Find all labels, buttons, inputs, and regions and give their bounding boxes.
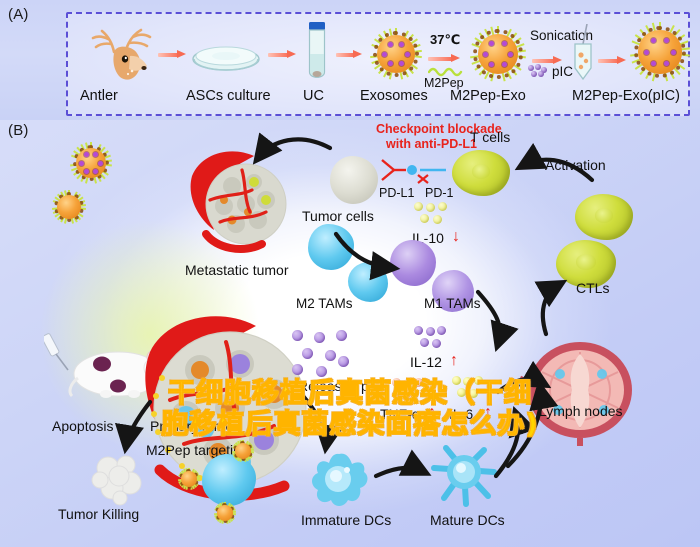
peptide-exosome-icon xyxy=(470,26,526,82)
label-ctls: CTLs xyxy=(576,280,609,296)
released-pic-dots xyxy=(292,330,350,376)
il12-up-arrow: ↑ xyxy=(450,352,458,370)
tumor-cell-icon xyxy=(330,156,378,204)
arrow-uc-to-exosomes xyxy=(336,50,362,59)
label-metastatic-tumor: Metastatic tumor xyxy=(185,262,288,278)
panel-b-letter: (B) xyxy=(8,122,29,139)
arrow-sonication-to-product xyxy=(598,56,626,65)
apoptotic-cell-icon xyxy=(86,450,148,508)
temperature-label: 37℃ xyxy=(430,32,460,48)
m2-macrophage-2 xyxy=(348,262,388,302)
lymph-node-icon xyxy=(520,338,640,446)
panel-a: (A) Antler xyxy=(0,0,700,120)
il6-up-arrow: ↑ xyxy=(484,404,492,422)
panel-a-label-antler: Antler xyxy=(80,88,118,104)
ctl-cell-1 xyxy=(575,194,633,240)
label-tnf-alpha: TNF-α xyxy=(380,406,420,422)
label-lymph-nodes: Lymph nodes xyxy=(539,403,623,419)
il12-dots-icon xyxy=(414,326,450,352)
pic-dots-icon xyxy=(528,64,548,78)
il6-dots-icon xyxy=(452,376,486,402)
m1-macrophage-1 xyxy=(390,240,436,286)
metastatic-tumor-icon xyxy=(180,150,300,260)
exosome-icon xyxy=(370,28,422,80)
label-checkpoint-line2: with anti-PD-L1 xyxy=(386,137,477,151)
panel-a-label-exosomes: Exosomes xyxy=(360,88,428,104)
label-t-cells: T cells xyxy=(470,129,510,145)
panel-a-label-m2pepexopic: M2Pep-Exo(pIC) xyxy=(572,88,680,104)
label-pd-1: PD-1 xyxy=(425,186,453,200)
deer-antler-icon xyxy=(84,22,158,84)
immature-dc-icon xyxy=(306,448,372,512)
mature-dc-icon xyxy=(428,442,500,512)
label-tumor-cells: Tumor cells xyxy=(302,208,374,224)
tnfa-up-arrow: ↑ xyxy=(428,404,436,422)
label-primary-tumor: Primary tumor xyxy=(150,418,238,434)
panel-b: (B) xyxy=(0,120,700,547)
exosome-targeting-2 xyxy=(178,468,200,490)
label-apoptosis: Apoptosis xyxy=(52,418,113,434)
arrow-exosome-to-m2pepexo xyxy=(428,54,460,63)
figure-canvas: (A) Antler xyxy=(0,0,700,547)
il10-dots-icon xyxy=(414,202,450,228)
il10-down-arrow: ↓ xyxy=(452,228,460,246)
label-pd-l1: PD-L1 xyxy=(379,186,414,200)
m2-macrophage-1 xyxy=(308,224,354,270)
petri-dish-icon xyxy=(190,44,262,74)
panel-a-label-m2pepexo: M2Pep-Exo xyxy=(450,88,526,104)
loaded-exosome-icon xyxy=(630,22,690,82)
arrow-asc-to-uc xyxy=(268,50,296,59)
t-cell-icon-1 xyxy=(452,150,510,196)
label-m2-tams: M2 TAMs xyxy=(296,296,353,311)
label-mature-dcs: Mature DCs xyxy=(430,512,505,528)
exosome-targeting-3 xyxy=(214,502,236,524)
label-tumor-killing: Tumor Killing xyxy=(58,506,139,522)
arrow-antler-to-asc xyxy=(158,50,186,59)
m2pep-squiggle-icon xyxy=(428,64,468,76)
panel-a-letter: (A) xyxy=(8,6,29,23)
sonication-tube-icon xyxy=(570,24,596,84)
label-il12: IL-12 xyxy=(410,354,442,370)
exosome-particle-1 xyxy=(70,142,112,184)
tnfa-dots-icon xyxy=(392,378,426,404)
label-activation: Activation xyxy=(545,157,606,173)
label-released-pic: Released pIC xyxy=(298,378,383,394)
centrifuge-tube-icon xyxy=(305,22,329,84)
label-m1-tams: M1 TAMs xyxy=(424,296,481,311)
panel-a-label-asc: ASCs culture xyxy=(186,88,271,104)
panel-a-label-uc: UC xyxy=(303,88,324,104)
label-immature-dcs: Immature DCs xyxy=(301,512,391,528)
exosome-targeting-1 xyxy=(232,440,254,462)
label-il6: IL-6 xyxy=(449,406,473,422)
exosome-particle-2 xyxy=(52,190,86,224)
